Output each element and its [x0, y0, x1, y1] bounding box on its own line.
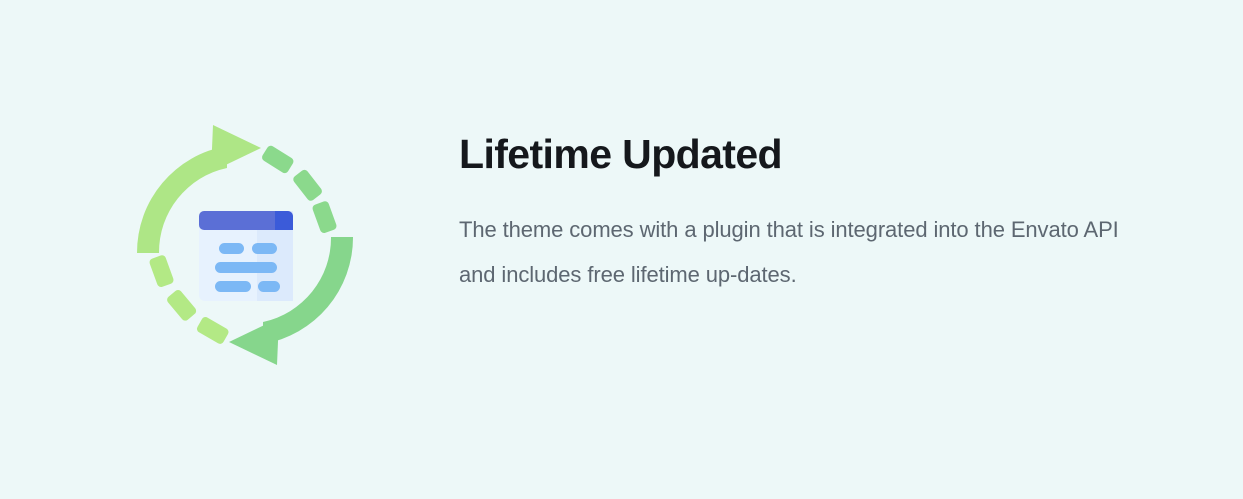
lifetime-update-sync-icon [115, 115, 375, 375]
feature-title: Lifetime Updated [459, 128, 1159, 180]
document-card-icon [199, 211, 293, 301]
feature-text-group: Lifetime Updated The theme comes with a … [459, 128, 1159, 297]
feature-block: Lifetime Updated The theme comes with a … [0, 0, 1243, 499]
feature-description: The theme comes with a plugin that is in… [459, 180, 1149, 297]
